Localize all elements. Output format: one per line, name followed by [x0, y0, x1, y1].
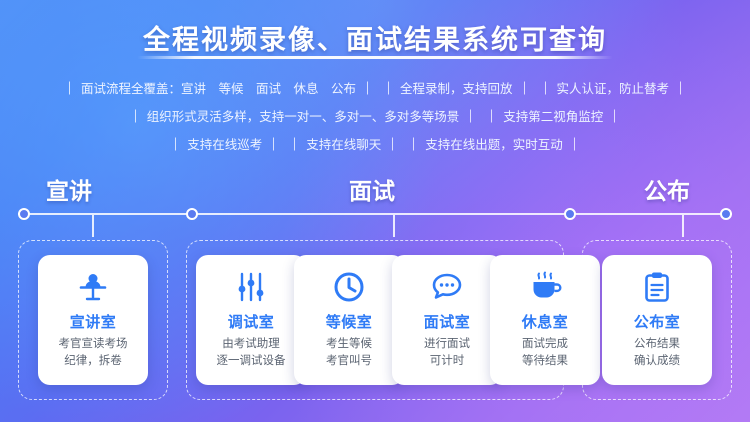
feature-item: 支持在线巡考: [173, 134, 276, 153]
card-tiaoshishi[interactable]: 调试室 由考试助理逐一调试设备: [196, 255, 306, 385]
timeline-axis: [18, 213, 732, 215]
stage-label-mianshi: 面试: [349, 172, 395, 206]
chat-icon: [430, 267, 464, 307]
clock-icon: [332, 267, 366, 307]
timeline-tick: [393, 215, 395, 237]
card-gongbushi[interactable]: 公布室 公布结果确认成绩: [602, 255, 712, 385]
sliders-icon: [234, 267, 268, 307]
coffee-icon: [528, 267, 562, 307]
title-underline: [138, 56, 613, 59]
card-desc: 进行面试可计时: [424, 336, 470, 369]
podium-icon: [76, 267, 110, 307]
feature-list: 面试流程全覆盖：宣讲 等候 面试 休息 公布 全程录制，支持回放 实人认证，防止…: [0, 78, 750, 153]
card-desc: 考生等候考官叫号: [326, 336, 372, 369]
stage-label-xuanjiang: 宣讲: [46, 172, 92, 206]
page-title: 全程视频录像、面试结果系统可查询: [0, 18, 750, 57]
card-desc: 面试完成等待结果: [522, 336, 568, 369]
feature-item: 支持第二视角监控: [489, 106, 617, 125]
timeline-tick: [682, 215, 684, 237]
timeline-node-end: [720, 208, 732, 220]
card-name: 宣讲室: [70, 311, 117, 332]
card-xiuxishi[interactable]: 休息室 面试完成等待结果: [490, 255, 600, 385]
card-xuanjiangshi[interactable]: 宣讲室 考官宣读考场纪律，拆卷: [38, 255, 148, 385]
card-name: 面试室: [424, 311, 471, 332]
feature-item: 全程录制，支持回放: [386, 78, 527, 97]
timeline-node-start: [18, 208, 30, 220]
card-desc: 考官宣读考场纪律，拆卷: [59, 336, 128, 369]
poster-canvas: 全程视频录像、面试结果系统可查询 面试流程全覆盖：宣讲 等候 面试 休息 公布 …: [0, 0, 750, 422]
feature-row-2: 组织形式灵活多样，支持一对一、多对一、多对多等场景 支持第二视角监控: [133, 106, 618, 125]
feature-item: 支持在线出题，实时互动: [411, 134, 577, 153]
feature-row-1: 面试流程全覆盖：宣讲 等候 面试 休息 公布 全程录制，支持回放 实人认证，防止…: [67, 78, 683, 97]
feature-item: 组织形式灵活多样，支持一对一、多对一、多对多等场景: [133, 106, 474, 125]
feature-item: 面试流程全覆盖：宣讲 等候 面试 休息 公布: [67, 78, 370, 97]
card-name: 等候室: [326, 311, 373, 332]
timeline-node-mianshi-end: [564, 208, 576, 220]
feature-item: 支持在线聊天: [292, 134, 395, 153]
timeline-node-xuanjiang-end: [186, 208, 198, 220]
feature-item: 实人认证，防止替考: [543, 78, 684, 97]
card-denghoushi[interactable]: 等候室 考生等候考官叫号: [294, 255, 404, 385]
clipboard-icon: [640, 267, 674, 307]
timeline-tick: [92, 215, 94, 237]
stage-label-gongbu: 公布: [644, 172, 690, 206]
card-desc: 公布结果确认成绩: [634, 336, 680, 369]
feature-row-3: 支持在线巡考 支持在线聊天 支持在线出题，实时互动: [173, 134, 577, 153]
card-mianshishi[interactable]: 面试室 进行面试可计时: [392, 255, 502, 385]
card-name: 公布室: [634, 311, 681, 332]
card-name: 休息室: [522, 311, 569, 332]
card-desc: 由考试助理逐一调试设备: [217, 336, 286, 369]
card-name: 调试室: [228, 311, 275, 332]
